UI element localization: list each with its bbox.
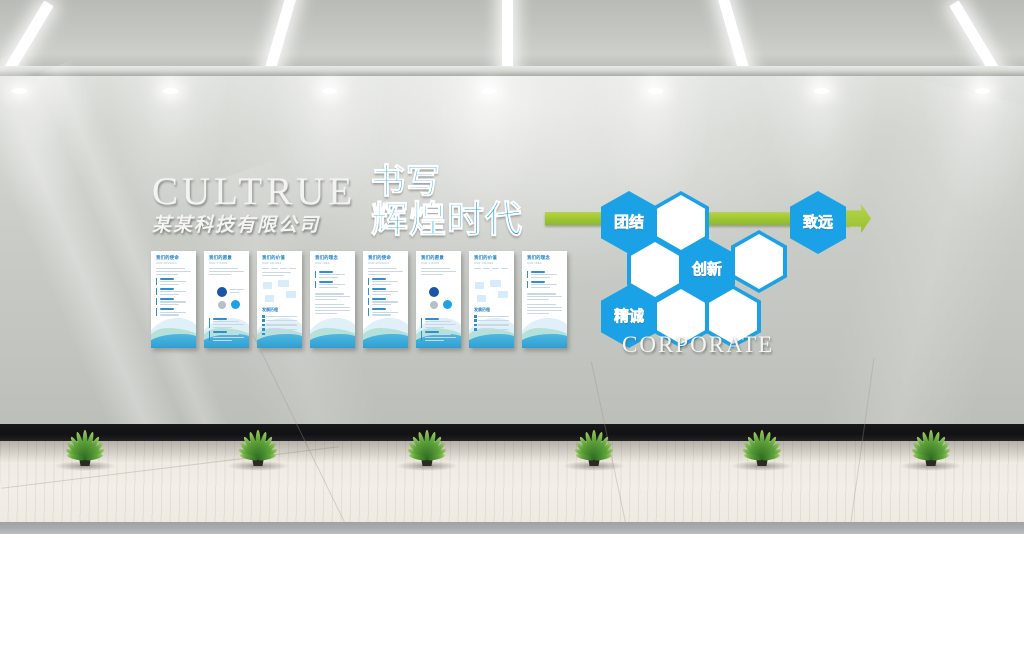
culture-panel-8[interactable]: 我们的理念 OUR IDEA [522,251,567,348]
culture-panel-2[interactable]: 我们的愿景 OUR VISION [204,251,249,348]
culture-panel-3[interactable]: 我们的价值 OUR VALUES 发展历程 [257,251,302,348]
panel-subtitle: OUR VALUES [474,262,494,265]
downlight-7 [975,88,990,94]
potted-plant [894,412,968,468]
panel-subtitle: OUR IDEA [527,262,542,265]
panel-square-3 [498,291,508,298]
panel-subtitle: OUR VALUES [262,262,282,265]
hexagon-label: 团结 [614,215,644,230]
culture-panel-1[interactable]: 我们的使命 OUR MISSION [151,251,196,348]
hexagon-inner-fill [631,242,679,297]
downlight-1 [12,88,27,94]
potted-plant [557,412,631,468]
panel-circle-blue [443,300,452,309]
panel-section-label: 发展历程 [474,307,509,313]
culture-panel-4[interactable]: 我们的理念 OUR IDEA [310,251,355,348]
potted-plant [221,412,295,468]
panel-square-1 [475,282,484,289]
downlight-4 [482,88,497,94]
bottom-banner: Ai 内含AI和CDR两种格式文件及效果图 昵图网 www.nipic.com … [0,534,1024,648]
panel-square-2 [490,280,501,287]
floor-contact-shadow [0,441,1024,463]
panel-wave-blue [310,334,355,348]
panel-wave-blue [522,334,567,348]
downlight-5 [648,88,663,94]
hexagon-label: 精诚 [614,309,644,324]
culture-panel-7[interactable]: 我们的价值 OUR VALUES 发展历程 [469,251,514,348]
potted-plant [390,412,464,468]
panel-body [315,268,350,316]
panel-subtitle: OUR VISION [209,262,227,265]
panel-wave-blue [469,334,514,348]
hexagon-inner-fill [735,234,783,289]
panel-title: 我们的愿景 [421,256,444,261]
panel-title: 我们的使命 [156,256,179,261]
panel-subtitle: OUR IDEA [315,262,330,265]
panel-body-lower [209,315,244,343]
company-name: 某某科技有限公司 [152,210,320,237]
hexagon-label: 致远 [803,215,833,230]
floor-front-edge [0,522,1024,534]
interior-scene: CULTRUE 某某科技有限公司 书写 辉煌时代 团结 创新 精诚 [0,0,1024,540]
panel-title: 我们的理念 [315,256,338,261]
panel-square-3 [286,291,296,298]
hexagon-label: 创新 [692,262,722,277]
downlight-3 [322,88,337,94]
panel-wave-blue [151,334,196,348]
panel-title: 我们的价值 [262,256,285,261]
panel-square-2 [278,280,289,287]
downlight-2 [163,88,178,94]
panel-title: 我们的价值 [474,256,497,261]
panel-circle-blue [231,300,240,309]
culture-panel-6[interactable]: 我们的愿景 OUR VISION [416,251,461,348]
wall-headline-en: CULTRUE [152,172,356,211]
screenshot-root: CULTRUE 某某科技有限公司 书写 辉煌时代 团结 创新 精诚 [0,0,1024,648]
panel-circle-gray [218,301,226,309]
wall-big-title: 书写 辉煌时代 [371,166,523,237]
panel-square-4 [265,295,274,302]
panel-body [368,268,403,317]
panel-title: 我们的理念 [527,256,550,261]
panel-body [421,268,456,277]
downlight-6 [814,88,829,94]
panel-circle-dark [217,287,227,297]
panel-section: 发展历程 [474,307,509,333]
panel-subtitle: OUR MISSION [368,262,389,265]
panel-body [156,268,191,317]
potted-plant [48,412,122,468]
panel-title: 我们的使命 [368,256,391,261]
panel-body [209,268,244,277]
ceiling [0,0,1024,72]
panel-square-1 [263,282,272,289]
panel-circle-dark [429,287,439,297]
light-wash-7 [905,76,1024,376]
corporate-word: CORPORATE [622,332,774,358]
panel-section: 发展历程 [262,307,297,337]
panel-body [527,268,562,316]
panel-subtitle: OUR VISION [421,262,439,265]
culture-panel-5[interactable]: 我们的使命 OUR MISSION [363,251,408,348]
light-wash-1 [0,76,115,376]
wall-baseboard [0,424,1024,441]
potted-plant [725,412,799,468]
panel-circle-gray [430,301,438,309]
panel-body [262,272,297,278]
hexagon-inner-fill [657,195,705,250]
big-title-line-2: 辉煌时代 [371,202,523,238]
panel-title: 我们的愿景 [209,256,232,261]
panel-square-4 [477,295,486,302]
big-title-line-1: 书写 [371,166,523,199]
ceiling-edge-trim [0,66,1024,76]
panel-wave-blue [363,334,408,348]
panel-subtitle: OUR MISSION [156,262,177,265]
panel-body-lower [421,315,456,343]
panel-section-label: 发展历程 [262,307,297,313]
